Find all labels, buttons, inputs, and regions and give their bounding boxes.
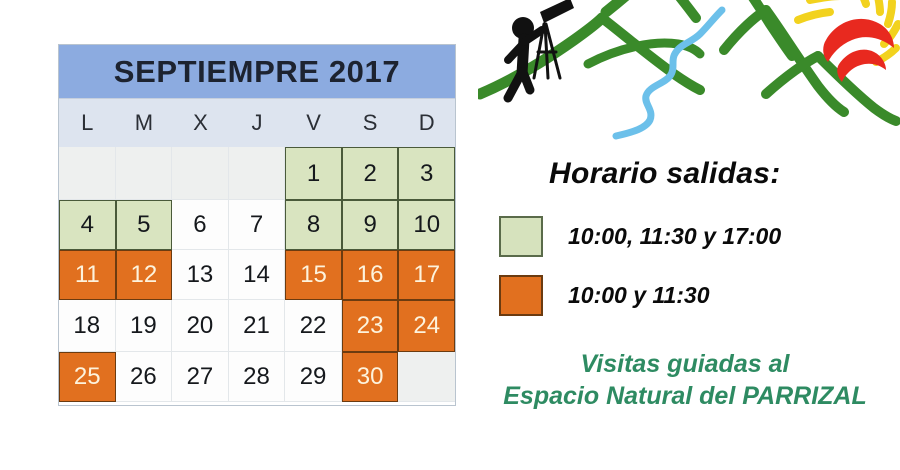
schedule-heading: Horario salidas: <box>549 157 781 191</box>
calendar-day-grid: 1234567891011121314151617181920212223242… <box>59 147 455 402</box>
weekday-sunday: D <box>398 99 455 147</box>
calendar-day-cell[interactable]: 20 <box>172 300 229 352</box>
footer-line-1: Visitas guiadas al <box>470 348 900 380</box>
calendar-weekday-header: L M X J V S D <box>59 98 455 147</box>
sun-icon <box>798 0 898 82</box>
weekday-thursday: J <box>229 99 286 147</box>
calendar-day-cell[interactable]: 5 <box>116 200 173 250</box>
calendar-day-cell[interactable]: 1 <box>285 147 342 200</box>
weekday-wednesday: X <box>172 99 229 147</box>
calendar: SEPTIEMPRE 2017 L M X J V S D 1234567891… <box>58 44 456 406</box>
legend-label-orange: 10:00 y 11:30 <box>568 282 710 309</box>
calendar-day-cell[interactable]: 25 <box>59 352 116 402</box>
calendar-day-cell[interactable]: 12 <box>116 250 173 300</box>
weekday-saturday: S <box>342 99 399 147</box>
calendar-cell-empty <box>172 147 229 200</box>
weekday-friday: V <box>285 99 342 147</box>
calendar-day-cell[interactable]: 21 <box>229 300 286 352</box>
calendar-day-cell[interactable]: 8 <box>285 200 342 250</box>
calendar-day-cell[interactable]: 15 <box>285 250 342 300</box>
calendar-day-cell[interactable]: 28 <box>229 352 286 402</box>
weekday-monday: L <box>59 99 116 147</box>
river-icon <box>616 10 722 136</box>
legend-swatch-orange <box>499 275 543 316</box>
calendar-day-cell[interactable]: 23 <box>342 300 399 352</box>
weekday-tuesday: M <box>116 99 173 147</box>
calendar-day-cell[interactable]: 27 <box>172 352 229 402</box>
calendar-cell-empty <box>398 352 455 402</box>
footer-line-2: Espacio Natural del PARRIZAL <box>470 380 900 412</box>
calendar-day-cell[interactable]: 17 <box>398 250 455 300</box>
calendar-day-cell[interactable]: 13 <box>172 250 229 300</box>
calendar-cell-empty <box>229 147 286 200</box>
legend-item-orange: 10:00 y 11:30 <box>499 275 710 316</box>
calendar-day-cell[interactable]: 3 <box>398 147 455 200</box>
calendar-day-cell[interactable]: 30 <box>342 352 399 402</box>
calendar-day-cell[interactable]: 2 <box>342 147 399 200</box>
calendar-day-cell[interactable]: 4 <box>59 200 116 250</box>
calendar-day-cell[interactable]: 16 <box>342 250 399 300</box>
calendar-day-cell[interactable]: 7 <box>229 200 286 250</box>
calendar-day-cell[interactable]: 9 <box>342 200 399 250</box>
calendar-cell-empty <box>59 147 116 200</box>
calendar-day-cell[interactable]: 24 <box>398 300 455 352</box>
calendar-day-cell[interactable]: 6 <box>172 200 229 250</box>
legend-label-green: 10:00, 11:30 y 17:00 <box>568 223 781 250</box>
legend-swatch-green <box>499 216 543 257</box>
calendar-day-cell[interactable]: 26 <box>116 352 173 402</box>
calendar-day-cell[interactable]: 18 <box>59 300 116 352</box>
calendar-cell-empty <box>116 147 173 200</box>
calendar-day-cell[interactable]: 29 <box>285 352 342 402</box>
legend-item-green: 10:00, 11:30 y 17:00 <box>499 216 781 257</box>
nature-park-logo <box>478 0 900 147</box>
calendar-day-cell[interactable]: 19 <box>116 300 173 352</box>
calendar-day-cell[interactable]: 11 <box>59 250 116 300</box>
calendar-title: SEPTIEMPRE 2017 <box>59 45 455 98</box>
footer-caption: Visitas guiadas al Espacio Natural del P… <box>470 348 900 412</box>
calendar-day-cell[interactable]: 10 <box>398 200 455 250</box>
calendar-day-cell[interactable]: 22 <box>285 300 342 352</box>
calendar-day-cell[interactable]: 14 <box>229 250 286 300</box>
